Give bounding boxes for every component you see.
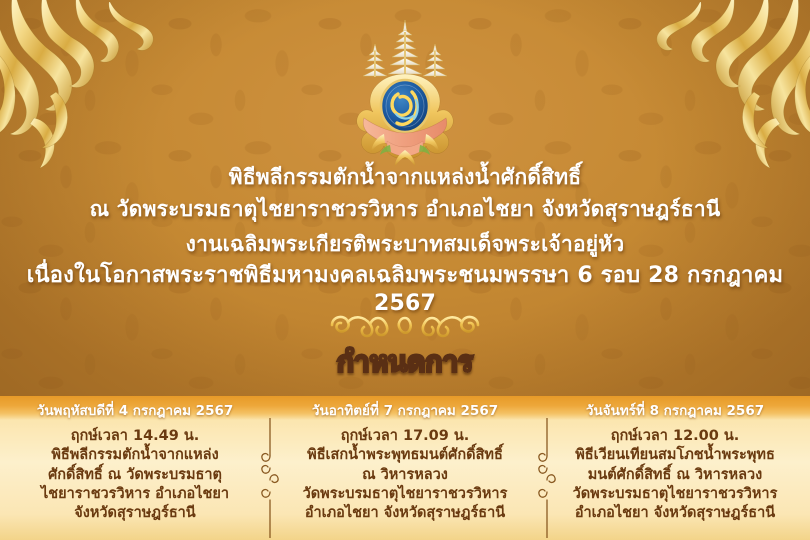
column-separator-ornament-2-icon — [536, 418, 558, 538]
schedule-line: ฤกษ์เวลา 17.09 น. — [276, 427, 534, 446]
schedule-date-2: วันอาทิตย์ที่ 7 กรกฎาคม 2567 — [276, 399, 534, 421]
schedule-line: ฤกษ์เวลา 12.00 น. — [546, 427, 804, 446]
schedule-body-1: ฤกษ์เวลา 14.49 น. พิธีพลีกรรมตักน้ำจากแห… — [6, 427, 264, 523]
title-line-1: พิธีพลีกรรมตักน้ำจากแหล่งน้ำศักดิ์สิทธิ์ — [0, 164, 810, 191]
schedule-panel: วันพฤหัสบดีที่ 4 กรกฎาคม 2567 ฤกษ์เวลา 1… — [0, 396, 810, 540]
title-line-2: ณ วัดพระบรมธาตุไชยาราชวรวิหาร อำเภอไชยา … — [0, 196, 810, 223]
schedule-column-3: วันจันทร์ที่ 8 กรกฎาคม 2567 ฤกษ์เวลา 12.… — [540, 396, 810, 540]
schedule-line: วัดพระบรมธาตุไชยาราชวรวิหาร — [276, 485, 534, 504]
title-line-3: งานเฉลิมพระเกียรติพระบาทสมเด็จพระเจ้าอยู… — [0, 231, 810, 258]
schedule-date-1: วันพฤหัสบดีที่ 4 กรกฎาคม 2567 — [6, 399, 264, 421]
schedule-column-1: วันพฤหัสบดีที่ 4 กรกฎาคม 2567 ฤกษ์เวลา 1… — [0, 396, 270, 540]
schedule-line: วัดพระบรมธาตุไชยาราชวรวิหาร — [546, 485, 804, 504]
column-separator-ornament-1-icon — [259, 418, 281, 538]
schedule-line: ณ วิหารหลวง — [276, 466, 534, 485]
schedule-body-3: ฤกษ์เวลา 12.00 น. พิธีเวียนเทียนสมโภชน้ำ… — [546, 427, 804, 523]
gold-kranok-ornament-left-icon — [0, 0, 160, 171]
schedule-line: ไชยาราชวรวิหาร อำเภอไชยา — [6, 485, 264, 504]
schedule-date-3: วันจันทร์ที่ 8 กรกฎาคม 2567 — [546, 399, 804, 421]
schedule-line: อำเภอไชยา จังหวัดสุราษฎร์ธานี — [276, 504, 534, 523]
schedule-line: มนต์ศักดิ์สิทธิ์ ณ วิหารหลวง — [546, 466, 804, 485]
schedule-column-2: วันอาทิตย์ที่ 7 กรกฎาคม 2567 ฤกษ์เวลา 17… — [270, 396, 540, 540]
schedule-line: พิธีพลีกรรมตักน้ำจากแหล่ง — [6, 446, 264, 465]
schedule-line: พิธีเสกน้ำพระพุทธมนต์ศักดิ์สิทธิ์ — [276, 446, 534, 465]
poster-title-block: พิธีพลีกรรมตักน้ำจากแหล่งน้ำศักดิ์สิทธิ์… — [0, 164, 810, 319]
schedule-line: อำเภอไชยา จังหวัดสุราษฎร์ธานี — [546, 504, 804, 523]
schedule-line: พิธีเวียนเทียนสมโภชน้ำพระพุทธ — [546, 446, 804, 465]
ceremony-poster: พิธีพลีกรรมตักน้ำจากแหล่งน้ำศักดิ์สิทธิ์… — [0, 0, 810, 540]
schedule-body-2: ฤกษ์เวลา 17.09 น. พิธีเสกน้ำพระพุทธมนต์ศ… — [276, 427, 534, 523]
gold-kranok-ornament-right-icon — [650, 0, 810, 171]
schedule-heading: กำหนดการ — [0, 340, 810, 384]
royal-cypher-emblem-icon — [330, 14, 480, 174]
schedule-line: จังหวัดสุราษฎร์ธานี — [6, 504, 264, 523]
schedule-line: ฤกษ์เวลา 14.49 น. — [6, 427, 264, 446]
schedule-columns: วันพฤหัสบดีที่ 4 กรกฎาคม 2567 ฤกษ์เวลา 1… — [0, 396, 810, 540]
ornamental-divider-icon — [250, 310, 560, 340]
schedule-line: ศักดิ์สิทธิ์ ณ วัดพระบรมธาตุ — [6, 466, 264, 485]
